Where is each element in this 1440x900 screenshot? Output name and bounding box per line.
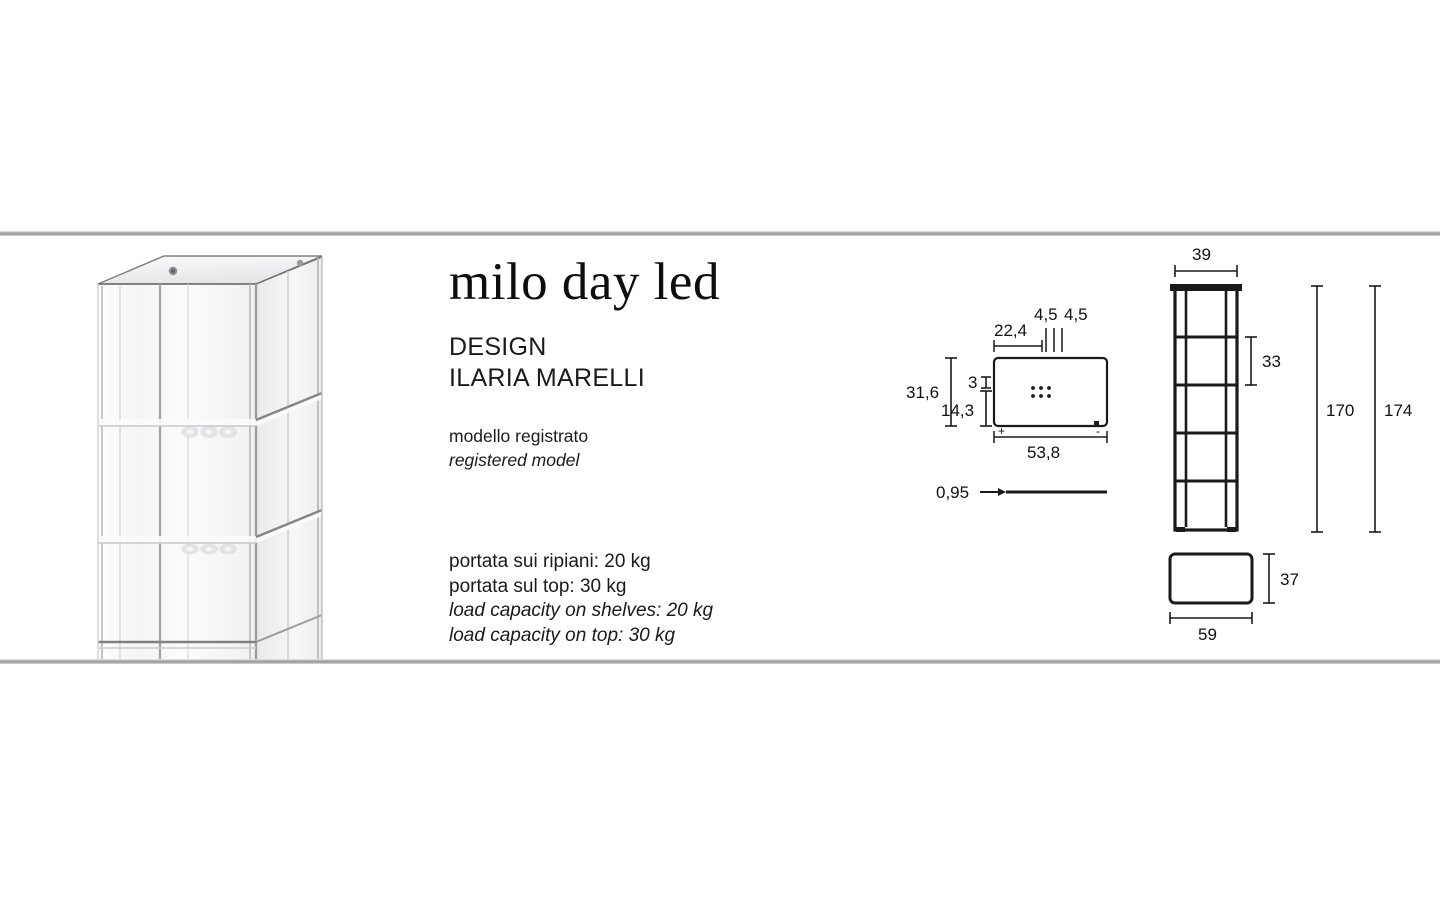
dim-line-59 <box>1170 612 1252 624</box>
capacity-shelves-it: portata sui ripiani: 20 kg <box>449 550 849 575</box>
elevation-foot-right <box>1227 527 1236 532</box>
dim-line-33 <box>1245 337 1257 385</box>
dim-label-4-5-b: 4,5 <box>1064 305 1088 324</box>
dim-line-37 <box>1263 554 1275 603</box>
dim-label-174: 174 <box>1384 401 1412 420</box>
drawing-base-plan: 37 59 <box>1170 554 1299 644</box>
page-title: milo day led <box>449 252 849 312</box>
technical-drawings: 31,6 14,3 3 <box>870 236 1430 659</box>
dim-label-0-95: 0,95 <box>936 483 969 502</box>
dim-label-4-5-a: 4,5 <box>1034 305 1058 324</box>
top-fixing-left-core <box>171 269 175 273</box>
plan-polarity-plus: + <box>998 424 1005 438</box>
design-credit: DESIGN ILARIA MARELLI <box>449 332 849 394</box>
capacity-top-it: portata sul top: 30 kg <box>449 575 849 600</box>
design-label: DESIGN <box>449 332 849 363</box>
elevation-top-plate <box>1170 284 1242 291</box>
dim-label-31-6: 31,6 <box>906 383 939 402</box>
product-text-column: milo day led DESIGN ILARIA MARELLI model… <box>449 252 849 648</box>
plan-polarity-minus: - <box>1096 424 1100 438</box>
led-spot <box>200 426 218 438</box>
capacity-shelves-en: load capacity on shelves: 20 kg <box>449 599 849 624</box>
dim-label-39: 39 <box>1192 245 1211 264</box>
dim-label-22-4: 22,4 <box>994 321 1027 340</box>
dim-line-39 <box>1175 265 1237 277</box>
cabinet-side-panel <box>256 257 322 659</box>
led-spot <box>200 544 218 555</box>
drawing-glass-thickness: 0,95 <box>936 483 1107 502</box>
dim-ticks-4-5 <box>1046 328 1062 352</box>
dim-label-3: 3 <box>968 373 977 392</box>
dim-line-22-4 <box>994 340 1042 352</box>
dim-line-170 <box>1311 286 1323 532</box>
dim-label-59: 59 <box>1198 625 1217 644</box>
elevation-outline <box>1175 288 1237 530</box>
elevation-foot-left <box>1176 527 1185 532</box>
led-spot <box>219 426 237 438</box>
designer-name: ILARIA MARELLI <box>449 363 849 394</box>
capacity-top-en: load capacity on top: 30 kg <box>449 624 849 649</box>
led-spot <box>181 544 199 555</box>
top-fixing-right <box>297 260 303 266</box>
registered-model-it: modello registrato <box>449 424 849 448</box>
dim-label-170: 170 <box>1326 401 1354 420</box>
dim-line-53-8 <box>994 431 1107 443</box>
dim-line-14-3 <box>980 391 992 426</box>
base-plan-outline <box>1170 554 1252 603</box>
led-spot <box>181 426 199 438</box>
dim-label-14-3: 14,3 <box>941 401 974 420</box>
registered-model-note: modello registrato registered model <box>449 424 849 472</box>
dim-label-33: 33 <box>1262 352 1281 371</box>
drawing-plan-view: 31,6 14,3 3 <box>906 305 1107 462</box>
drawing-elevation: 39 33 170 <box>1170 245 1412 532</box>
dim-line-174 <box>1369 286 1381 532</box>
thickness-arrow-head <box>998 488 1006 496</box>
led-spot <box>219 544 237 555</box>
product-photo <box>60 236 380 659</box>
divider-bottom <box>0 659 1440 664</box>
dim-label-37: 37 <box>1280 570 1299 589</box>
registered-model-en: registered model <box>449 448 849 472</box>
cabinet-front-panel <box>98 284 256 659</box>
dim-line-3 <box>981 377 991 388</box>
load-capacity-note: portata sui ripiani: 20 kg portata sul t… <box>449 550 849 648</box>
plan-outline <box>994 358 1107 426</box>
dim-label-53-8: 53,8 <box>1027 443 1060 462</box>
product-datasheet: milo day led DESIGN ILARIA MARELLI model… <box>0 0 1440 900</box>
